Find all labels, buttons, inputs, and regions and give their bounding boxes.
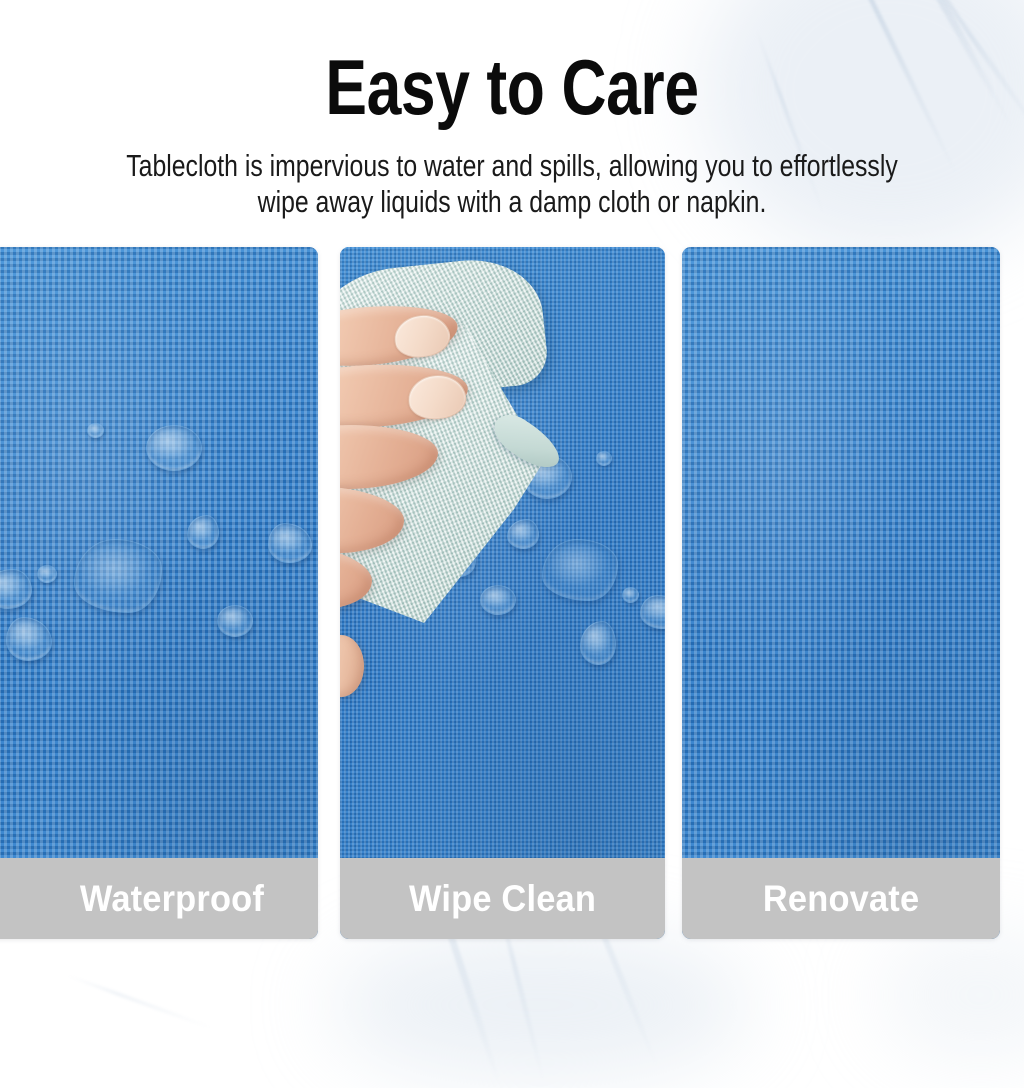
page-title: Easy to Care bbox=[102, 44, 921, 130]
page-subtitle: Tablecloth is impervious to water and sp… bbox=[102, 150, 921, 218]
water-droplet bbox=[187, 515, 219, 549]
panel-waterproof[interactable]: Waterproof bbox=[0, 247, 318, 939]
panel-wipe-clean[interactable]: Wipe Clean bbox=[340, 247, 665, 939]
caption-bar-renovate: Renovate bbox=[682, 858, 1000, 939]
water-droplet bbox=[596, 451, 612, 466]
caption-label: Wipe Clean bbox=[409, 878, 596, 920]
water-droplet bbox=[622, 587, 639, 603]
caption-bar-wipe-clean: Wipe Clean bbox=[340, 858, 665, 939]
page-subtitle-line-1: Tablecloth is impervious to water and sp… bbox=[102, 150, 921, 182]
caption-label: Waterproof bbox=[80, 878, 264, 920]
finger bbox=[340, 423, 439, 490]
marble-wash bbox=[330, 930, 750, 1080]
fabric-texture-image bbox=[0, 247, 318, 939]
water-droplet bbox=[507, 519, 539, 549]
feature-panels: Waterproof Wi bbox=[0, 247, 1024, 939]
marble-vein bbox=[64, 973, 216, 1031]
page-subtitle-line-2: wipe away liquids with a damp cloth or n… bbox=[102, 186, 921, 218]
fabric-texture-image bbox=[682, 247, 1000, 939]
water-droplet bbox=[542, 539, 618, 601]
water-droplet bbox=[74, 539, 162, 613]
water-droplet bbox=[37, 565, 57, 583]
water-droplet bbox=[146, 425, 202, 471]
water-droplet bbox=[87, 423, 104, 438]
water-droplet bbox=[217, 605, 253, 637]
hand-image bbox=[340, 299, 488, 629]
panel-renovate[interactable]: Renovate bbox=[682, 247, 1000, 939]
caption-label: Renovate bbox=[763, 878, 919, 920]
caption-bar-waterproof: Waterproof bbox=[0, 858, 318, 939]
finger bbox=[340, 483, 406, 557]
marble-wash bbox=[880, 930, 1024, 1060]
